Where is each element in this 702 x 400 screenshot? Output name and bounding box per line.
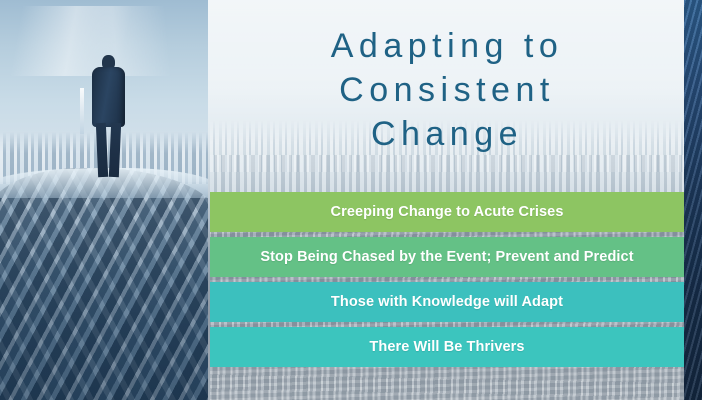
left-photo-tower bbox=[80, 88, 84, 134]
slide-title-line-3: Change bbox=[210, 112, 684, 156]
bullet-bar-3-label: Those with Knowledge will Adapt bbox=[331, 294, 563, 310]
bullet-bar-4-label: There Will Be Thrivers bbox=[369, 339, 524, 355]
bullet-bar-3[interactable]: Those with Knowledge will Adapt bbox=[210, 282, 684, 322]
presentation-slide: Adapting to Consistent Change Creeping C… bbox=[0, 0, 702, 400]
left-photo-cliff bbox=[0, 168, 208, 400]
bullet-bar-2-label: Stop Being Chased by the Event; Prevent … bbox=[260, 249, 633, 265]
businessman-figure bbox=[88, 55, 128, 177]
left-photo-panel bbox=[0, 0, 208, 400]
slide-title-line-1: Adapting to bbox=[210, 24, 684, 68]
bullet-bar-1[interactable]: Creeping Change to Acute Crises bbox=[210, 192, 684, 232]
slide-title: Adapting to Consistent Change bbox=[210, 24, 684, 156]
businessman-leg-right bbox=[109, 123, 121, 177]
businessman-torso bbox=[92, 67, 125, 127]
right-edge-strip bbox=[684, 0, 702, 400]
slide-title-line-2: Consistent bbox=[210, 68, 684, 112]
bullet-bar-4[interactable]: There Will Be Thrivers bbox=[210, 327, 684, 367]
bullet-bar-2[interactable]: Stop Being Chased by the Event; Prevent … bbox=[210, 237, 684, 277]
businessman-leg-left bbox=[96, 123, 108, 177]
bullet-bar-1-label: Creeping Change to Acute Crises bbox=[331, 204, 564, 220]
